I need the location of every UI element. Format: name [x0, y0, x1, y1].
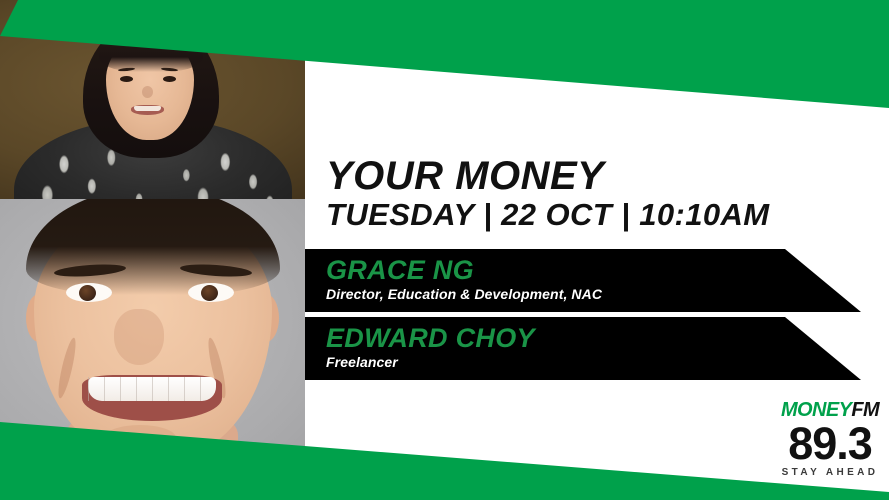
guest-role: Director, Education & Development, NAC [326, 286, 602, 302]
guest-banner: EDWARD CHOY Freelancer [305, 317, 861, 380]
guest-banner-text: GRACE NG Director, Education & Developme… [326, 255, 602, 302]
portrait-iris-left [79, 285, 96, 301]
show-schedule: TUESDAY | 22 OCT | 10:10AM [326, 199, 846, 232]
guest-name: EDWARD CHOY [326, 323, 535, 353]
guest-name: GRACE NG [326, 255, 602, 285]
portrait-eye-left [66, 283, 112, 302]
logo-tagline: STAY AHEAD [776, 468, 884, 478]
logo-frequency: 89.3 [776, 421, 884, 466]
page-title: YOUR MONEY [326, 156, 846, 197]
portrait-teeth [88, 377, 216, 401]
show-title-block: YOUR MONEY TUESDAY | 22 OCT | 10:10AM [326, 156, 846, 231]
guest-banner-text: EDWARD CHOY Freelancer [326, 323, 535, 370]
portrait-teeth [134, 106, 161, 111]
guest-banner: GRACE NG Director, Education & Developme… [305, 249, 861, 312]
portrait-nose [142, 86, 153, 98]
portrait-nose [114, 309, 164, 365]
logo-wordmark: MONEYFM [776, 400, 884, 420]
portrait-hair [26, 199, 280, 295]
portrait-eye-right [163, 76, 176, 82]
portrait-eye-left [120, 76, 133, 82]
portrait-eye-right [188, 283, 234, 302]
broadcast-promo-graphic: YOUR MONEY TUESDAY | 22 OCT | 10:10AM GR… [0, 0, 889, 500]
station-logo: MONEYFM 89.3 STAY AHEAD [776, 400, 884, 478]
guest-role: Freelancer [326, 354, 535, 370]
guest-photo-column [0, 0, 305, 500]
portrait-iris-right [201, 285, 218, 301]
